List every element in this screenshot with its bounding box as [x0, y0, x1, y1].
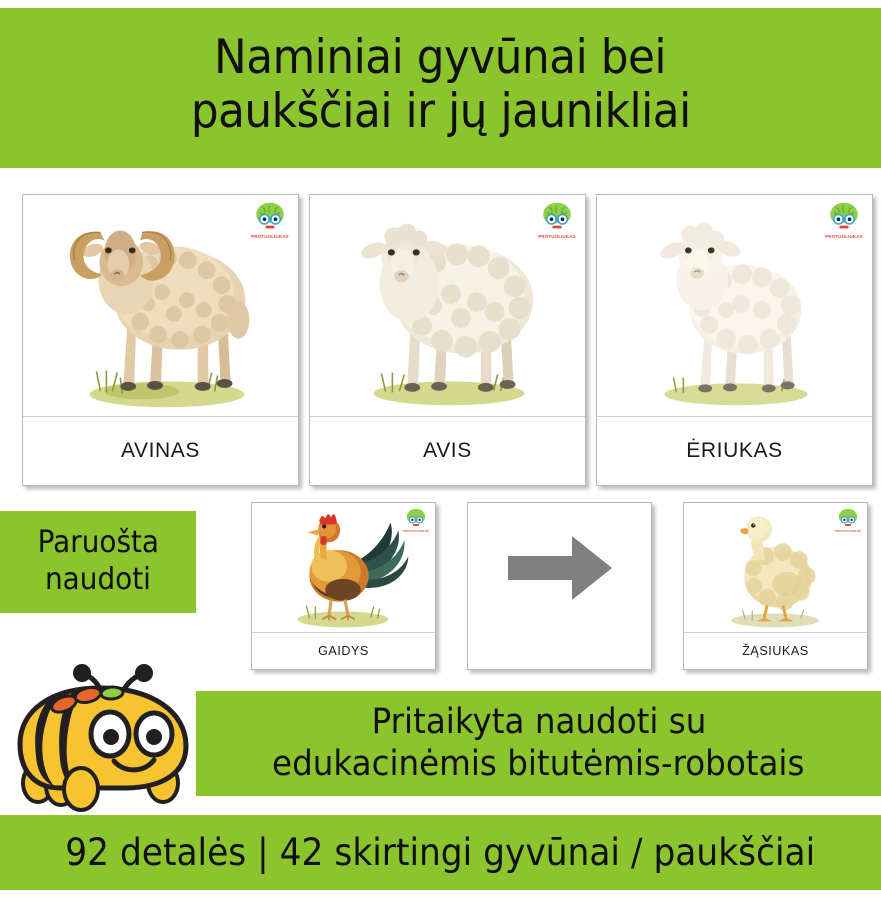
bee-robot-icon [8, 660, 203, 815]
flashcard-avis[interactable]: AVIS PROTUOLIUKAS [309, 194, 586, 486]
card-label-gaidys: GAIDYS [252, 633, 435, 669]
poster-title-line-1: Naminiai gyvūnai bei [214, 33, 666, 83]
callout-line-2: edukacinėmis bitutėmis-robotais [272, 744, 804, 785]
logo-text: PROTUOLIUKAS [251, 234, 289, 239]
flashcard-avinas[interactable]: AVINAS PROTUOLIUKAS [22, 194, 299, 486]
bee-bot-mascot [8, 660, 203, 815]
card-label-zasiukas: ŽĄSIUKAS [684, 633, 867, 669]
flashcard-eriukas[interactable]: ĖRIUKAS PROTUOLIUKAS [596, 194, 873, 486]
poster-title-line-2: paukščiai ir jų jaunikliai [191, 87, 691, 137]
protuoliukas-logo: PROTUOLIUKAS [822, 200, 866, 246]
logo-text: PROTUOLIUKAS [538, 234, 576, 239]
card-label-avinas: AVINAS [23, 417, 298, 485]
arrow-right-icon [500, 528, 620, 608]
title-banner: Naminiai gyvūnai bei paukščiai ir jų jau… [0, 8, 881, 168]
logo-text: PROTUOLIUKAS [403, 529, 429, 533]
card-label-arrow [468, 633, 651, 669]
beebot-callout: Pritaikyta naudoti su edukacinėmis bitut… [196, 691, 881, 796]
flashcard-gaidys[interactable]: GAIDYS PROTUOLIUKAS [251, 502, 436, 670]
card-label-avis: AVIS [310, 417, 585, 485]
ready-badge-line-2: naudoti [45, 562, 151, 599]
poster-page: Naminiai gyvūnai bei paukščiai ir jų jau… [0, 0, 881, 900]
logo-text: PROTUOLIUKAS [835, 529, 861, 533]
flashcard-arrow[interactable] [467, 502, 652, 670]
ready-badge-line-1: Paruošta [37, 525, 158, 562]
protuoliukas-logo: PROTUOLIUKAS [535, 200, 579, 246]
footer-band: 92 detalės | 42 skirtingi gyvūnai / pauk… [0, 815, 881, 890]
ready-to-use-badge: Paruošta naudoti [0, 511, 196, 613]
flashcard-zasiukas[interactable]: ŽĄSIUKAS PROTUOLIUKAS [683, 502, 868, 670]
logo-text: PROTUOLIUKAS [825, 234, 863, 239]
card-label-eriukas: ĖRIUKAS [597, 417, 872, 485]
footer-text: 92 detalės | 42 skirtingi gyvūnai / pauk… [66, 831, 816, 874]
protuoliukas-logo: PROTUOLIUKAS [402, 507, 430, 537]
cards-panel: AVINAS PROTUOLIUKAS [8, 172, 874, 692]
card-image-arrow [468, 503, 651, 633]
callout-line-1: Pritaikyta naudoti su [371, 702, 706, 743]
protuoliukas-logo: PROTUOLIUKAS [834, 507, 862, 537]
protuoliukas-logo: PROTUOLIUKAS [248, 200, 292, 246]
